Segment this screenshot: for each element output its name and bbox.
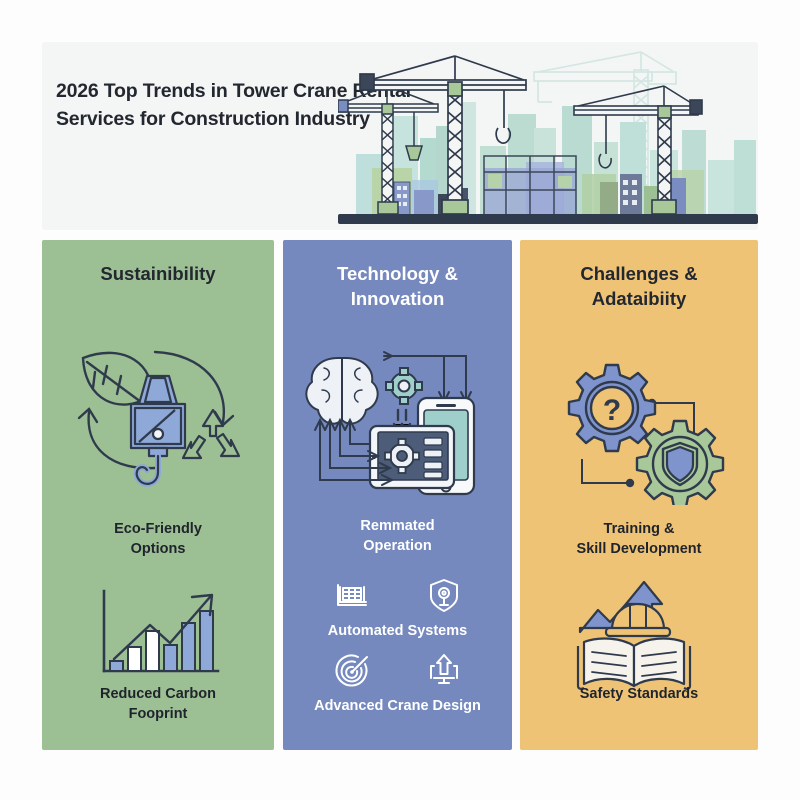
column-sustainability[interactable]: Sustainibility (42, 240, 274, 750)
label-line: Reduced Carbon (42, 685, 274, 705)
training-icon-block: ? (520, 355, 758, 510)
label-line: Skill Development (520, 540, 758, 560)
automated-systems-icon-row (283, 575, 512, 615)
remote-operation-icon-block (283, 340, 512, 510)
heading-line: Sustainibility (42, 262, 274, 287)
brain-gear-tablet-phone-icon (298, 340, 498, 505)
question-gear-icon: ? (569, 365, 655, 451)
shield-gear-icon (637, 421, 723, 505)
safety-icon-block (520, 578, 758, 698)
advanced-crane-icon-row (283, 650, 512, 690)
svg-text:?: ? (603, 394, 621, 427)
eco-friendly-icon-block (42, 330, 274, 495)
tablet-icon (370, 426, 454, 488)
label-line: Eco-Friendly (42, 520, 274, 540)
carbon-chart-block (42, 585, 274, 690)
label-line: Options (42, 540, 274, 560)
column-challenges-adaptability[interactable]: Challenges & Adataibiity ? (520, 240, 758, 750)
arrow-hardhat-open-book-icon (564, 578, 714, 693)
chart-bars (110, 611, 213, 671)
label-line: Safety Standards (520, 685, 758, 705)
ground-bar (338, 214, 758, 224)
column-technology-innovation[interactable]: Technology & Innovation (283, 240, 512, 750)
item-label-reduced-carbon: Reduced Carbon Fooprint (42, 685, 274, 725)
shield-location-pin-icon (424, 575, 464, 615)
label-line: Automated Systems (283, 622, 512, 642)
label-line: Remmated (283, 517, 512, 537)
radar-target-icon (332, 650, 372, 690)
question-gear-shield-gear-icon: ? (544, 355, 734, 505)
label-line: Fooprint (42, 705, 274, 725)
column-technology-heading: Technology & Innovation (283, 262, 512, 311)
item-label-training-skill: Training & Skill Development (520, 520, 758, 560)
item-label-advanced-crane-design: Advanced Crane Design (283, 697, 512, 717)
item-label-remote-operation: Remmated Operation (283, 517, 512, 557)
heading-line: Challenges & (520, 262, 758, 287)
leaf-crane-hook-recycle-icon (63, 330, 253, 490)
label-line: Operation (283, 537, 512, 557)
upload-arrow-icon (424, 650, 464, 690)
column-challenges-heading: Challenges & Adataibiity (520, 262, 758, 311)
heading-line: Innovation (283, 287, 512, 312)
label-line: Advanced Crane Design (283, 697, 512, 717)
item-label-safety-standards: Safety Standards (520, 685, 758, 705)
winch-machine-icon (332, 575, 372, 615)
item-label-eco-friendly: Eco-Friendly Options (42, 520, 274, 560)
header-card: 2026 Top Trends in Tower Crane Rental Se… (42, 42, 758, 230)
open-book-icon (578, 639, 690, 689)
label-line: Training & (520, 520, 758, 540)
heading-line: Adataibiity (520, 287, 758, 312)
rising-bar-chart-icon (88, 585, 228, 685)
hard-hat-icon (606, 604, 670, 636)
heading-line: Technology & (283, 262, 512, 287)
item-label-automated-systems: Automated Systems (283, 622, 512, 642)
small-gear-icon (386, 368, 422, 404)
infographic-canvas: 2026 Top Trends in Tower Crane Rental Se… (0, 0, 800, 800)
construction-skyline-illustration (338, 42, 758, 230)
column-sustainability-heading: Sustainibility (42, 262, 274, 287)
